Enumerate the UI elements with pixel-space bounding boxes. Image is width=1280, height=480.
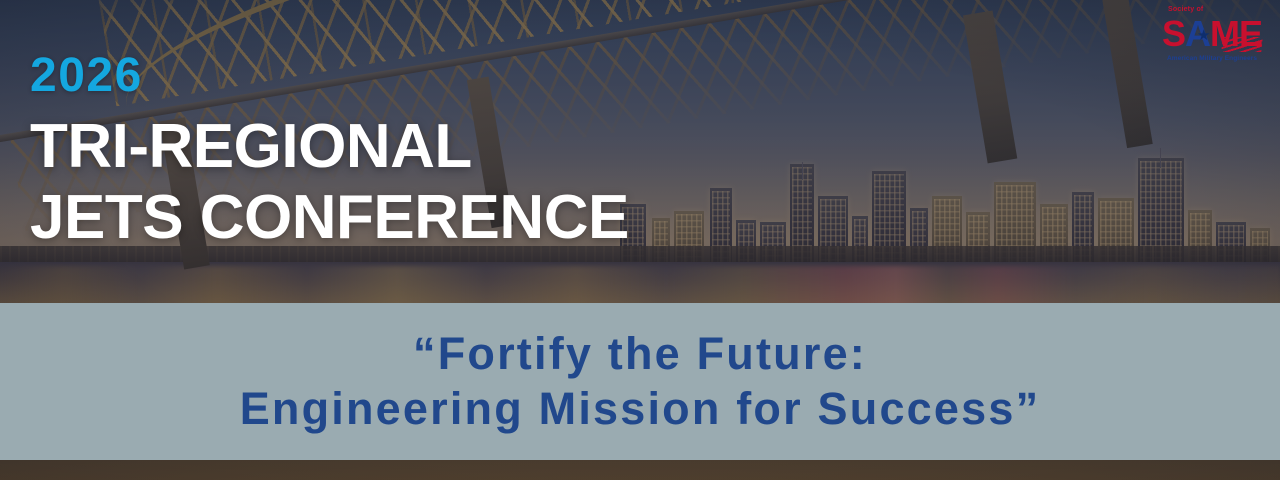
theme-line-1: “Fortify the Future:: [413, 327, 867, 382]
headline-block: 2026 TRI-REGIONAL JETS CONFERENCE: [30, 52, 629, 252]
logo-wordmark-group: SAME ★: [1160, 14, 1264, 54]
page-title-line-2: JETS CONFERENCE: [30, 185, 629, 252]
same-logo[interactable]: Society of SAME ★ American Military Engi…: [1160, 6, 1264, 72]
event-year: 2026: [30, 52, 629, 100]
page-title-line-1: TRI-REGIONAL: [30, 114, 629, 181]
theme-line-2: Engineering Mission for Success”: [240, 382, 1041, 437]
flag-stripes-icon: [1221, 37, 1263, 52]
conference-banner: 2026 TRI-REGIONAL JETS CONFERENCE Societ…: [0, 0, 1280, 480]
conference-theme-band: “Fortify the Future: Engineering Mission…: [0, 303, 1280, 460]
logo-subtitle-text: American Military Engineers: [1160, 56, 1264, 63]
logo-society-of-text: Society of: [1168, 6, 1264, 13]
